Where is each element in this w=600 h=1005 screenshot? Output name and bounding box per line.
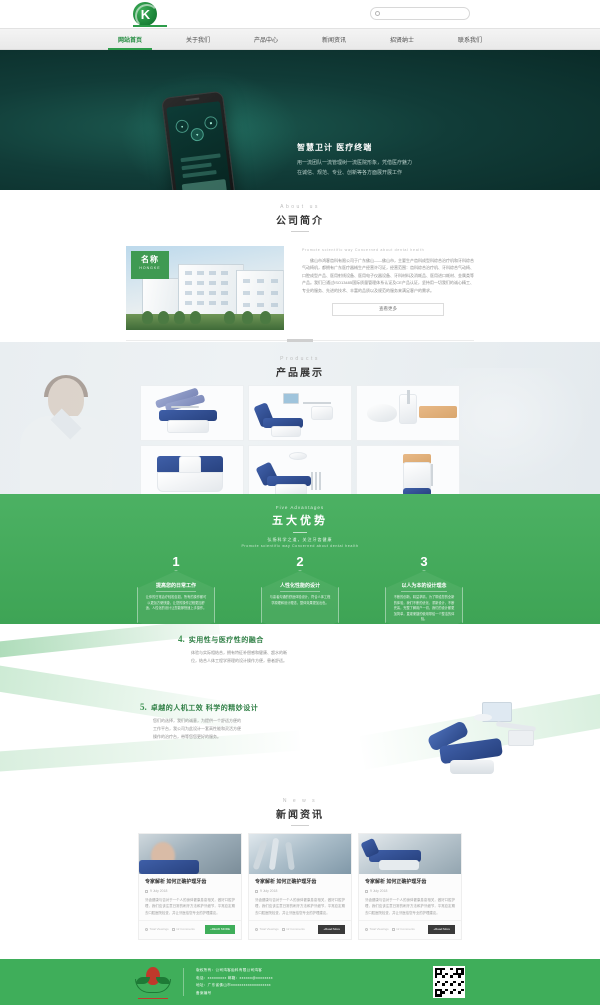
footer-divider [183,968,184,996]
advantage-desc: 让你的日常治疗轻松自如，所有的操作都可以更加方便快捷，让您的操作过程更加舒适，人… [145,595,207,612]
news-title[interactable]: 专家解析 如何正确护理牙齿 [255,879,345,886]
advantages-heading-cn: 五大优势 [0,512,600,528]
about-heading: About us 公司简介 [0,190,600,232]
news-date: 9 July 2018 [255,889,345,893]
advantage-number: 1 [134,555,218,568]
footer-copyright: 版权所有：公司鸿客齿科有限公司鸿客 [196,968,273,973]
hero-subtitle-line2: 在诚信、规范、专业、创新等各方面展开展工作 [297,169,512,179]
advantage-number: 3 [382,555,466,568]
search-box[interactable] [370,7,470,20]
advantage-4-desc-line1: 体验与实际相结合，拥有特征补偿感和健康、超水的晰 [178,649,408,657]
advantage-hexagon: 人性化性能的设计 与患者沟通的舒适体验设计，符合人体工程学原理和设计理念，整体效… [261,570,339,624]
advantage-4-head: 4. 实用性与医疗性的融合 [178,634,408,645]
chart-icon: ■ [204,116,218,130]
news-excerpt: 牙齿健康与否对于一个人的身体健康息息相关，做好口腔护理，我们应该注意日常的刷牙方… [145,897,235,916]
about-lead-en: Promote scientific way Concerned about d… [302,248,474,252]
logo-k-icon: K [133,2,157,26]
news-excerpt: 牙齿健康与否对于一个人的身体健康息息相关，做好口腔护理，我们应该注意日常的刷牙方… [365,897,455,916]
comment-icon [172,928,175,931]
about-heading-cn: 公司简介 [0,212,600,227]
advantages-section: Five Advantages 五大优势 弘扬科学之道，关注牙齿健康 Promo… [0,494,600,624]
news-card-body: 专家解析 如何正确护理牙齿 9 July 2018 牙齿健康与否对于一个人的身体… [139,874,241,920]
nav-item-contact[interactable]: 联系我们 [436,28,504,50]
nav-item-products[interactable]: 产品中心 [232,28,300,50]
hero-subtitle-line1: 用一流团队一流管理树一流医院形象，凭借医疗魅力 [297,159,512,169]
phone-screen: ● ♥ ■ [166,101,231,190]
advantage-desc: 不断的创新，精益求精，为了带给您的全新的体验，我们不断的优化、重新设计，不断完善… [393,595,455,623]
advantage-5-number: 5. [140,702,147,712]
advantage-5-desc-line1: 您们的选择，我们的诚意，为提供一个舒适方便的 [140,717,390,725]
phone-line [181,163,211,171]
about-divider [126,340,474,341]
advantage-item-3[interactable]: 3 以人为本的设计理念 不断的创新，精益求精，为了带给您的全新的体验，我们不断的… [382,555,466,624]
advantage-desc: 与患者沟通的舒适体验设计，符合人体工程学原理和设计理念，整体效果更加出色。 [269,595,331,606]
advantage-4-desc-line2: 位，结合人体工程学原理的设计操作方便，患者舒适。 [178,657,408,665]
building-right [236,270,284,316]
dental-chair-illustration [422,720,542,780]
advantage-item-2[interactable]: 2 人性化性能的设计 与患者沟通的舒适体验设计，符合人体工程学原理和设计理念，整… [258,555,342,624]
news-views-text: Total Viewings [260,927,279,931]
about-more-button[interactable]: 查看更多 [332,303,444,316]
phone-line [182,170,216,178]
chair-lamp [474,714,492,721]
logo-underline [133,25,167,27]
news-comments: 12 Comments [392,927,415,931]
news-card-body: 专家解析 如何正确护理牙齿 9 July 2018 牙齿健康与否对于一个人的身体… [359,874,461,920]
advantage-title: 提高您的日常工作 [156,582,196,592]
person-icon: ● [175,119,189,133]
advantages-detail-section: 4. 实用性与医疗性的融合 体验与实际相结合，拥有特征补偿感和健康、超水的晰 位… [0,624,600,784]
products-grid [140,385,460,494]
news-card-footer: Total Viewings 12 Comments +Read More [359,920,461,939]
news-title[interactable]: 专家解析 如何正确护理牙齿 [365,879,455,886]
hero-copy: 智慧卫计 医疗终端 用一流团队一流管理树一流医院形象，凭借医疗魅力 在诚信、规范… [297,142,512,178]
news-card-1[interactable]: 专家解析 如何正确护理牙齿 9 July 2018 牙齿健康与否对于一个人的身体… [138,833,242,940]
nav-item-news[interactable]: 新闻资讯 [300,28,368,50]
product-card-5[interactable] [248,445,352,494]
search-input[interactable] [382,11,465,16]
product-card-4[interactable] [140,445,244,494]
heart-icon: ♥ [190,127,204,141]
top-bar: K [0,0,600,28]
comment-icon [392,928,395,931]
eye-icon [255,928,258,931]
news-read-more-button[interactable]: +Read More [318,925,345,934]
news-comments: 12 Comments [282,927,305,931]
calendar-icon [255,890,258,893]
about-body: 名称 HONGKE Promote scientific way Concern… [0,232,600,330]
news-read-more-button[interactable]: +READ MORE [205,925,235,934]
company-emblem-icon [135,965,171,999]
emblem-bowl [135,979,171,993]
footer-address: 地址：广东省佛山市xxxxxxxxxxxxxxxxxxx [196,983,273,988]
news-card-body: 专家解析 如何正确护理牙齿 9 July 2018 牙齿健康与否对于一个人的身体… [249,874,351,920]
building-main [178,264,244,316]
advantages-tagline-cn: 弘扬科学之道，关注牙齿健康 [0,537,600,543]
news-thumbnail [249,834,351,874]
about-heading-en: About us [0,204,600,210]
advantages-tagline-en: Promote scientific way Concerned about d… [0,544,600,548]
news-heading-en: N e w s [0,798,600,804]
news-date-text: 9 July 2018 [260,889,277,893]
product-card-3[interactable] [356,385,460,441]
about-text: Promote scientific way Concerned about d… [302,246,474,330]
main-navigation: 网站首页 关于我们 产品中心 新闻资讯 招贤纳士 联系我们 [0,28,600,50]
advantage-4-number: 4. [178,634,185,644]
advantage-item-4: 4. 实用性与医疗性的融合 体验与实际相结合，拥有特征补偿感和健康、超水的晰 位… [178,634,408,665]
advantage-hexagon: 以人为本的设计理念 不断的创新，精益求精，为了带给您的全新的体验，我们不断的优化… [385,570,463,624]
advantages-heading-en: Five Advantages [0,505,600,510]
calendar-icon [145,890,148,893]
news-grid: 专家解析 如何正确护理牙齿 9 July 2018 牙齿健康与否对于一个人的身体… [0,833,600,940]
advantages-heading: Five Advantages 五大优势 弘扬科学之道，关注牙齿健康 Promo… [0,494,600,548]
advantage-5-desc-line3: 操作的治疗台，带等您您更好的服务。 [140,733,390,741]
nav-item-about[interactable]: 关于我们 [164,28,232,50]
footer-inner: 版权所有：公司鸿客齿科有限公司鸿客 电话：xxxxxxxxx 邮箱：xxxxxx… [135,965,465,999]
comment-icon [282,928,285,931]
phone-speaker [185,98,199,102]
footer-icp: 备案编号 [196,991,273,996]
qr-code [433,966,465,998]
product-card-6[interactable] [356,445,460,494]
advantage-item-1[interactable]: 1 提高您的日常工作 让你的日常治疗轻松自如，所有的操作都可以更加方便快捷，让您… [134,555,218,624]
news-thumbnail [139,834,241,874]
phone-panel [182,179,227,190]
advantage-hexagon: 提高您的日常工作 让你的日常治疗轻松自如，所有的操作都可以更加方便快捷，让您的操… [137,570,215,624]
about-building-image: 名称 HONGKE [126,246,284,330]
advantage-5-head: 5. 卓越的人机工效 科学的精妙设计 [140,702,390,713]
background-equipment [440,368,590,488]
news-views-text: Total Viewings [150,927,169,931]
badge-name-cn: 名称 [131,256,169,264]
advantage-5-title: 卓越的人机工效 科学的精妙设计 [151,703,258,713]
advantage-item-5: 5. 卓越的人机工效 科学的精妙设计 您们的选择，我们的诚意，为提供一个舒适方便… [140,702,390,741]
heading-rule [291,825,309,826]
news-views: Total Viewings [255,927,279,931]
news-card-3[interactable]: 专家解析 如何正确护理牙齿 9 July 2018 牙齿健康与否对于一个人的身体… [358,833,462,940]
news-excerpt: 牙齿健康与否对于一个人的身体健康息息相关，做好口腔护理，我们应该注意日常的刷牙方… [255,897,345,916]
footer-phone-email: 电话：xxxxxxxxx 邮箱：xxxxxx@xxxxxxxx [196,976,273,981]
news-date-text: 9 July 2018 [150,889,167,893]
company-name-badge: 名称 HONGKE [131,251,169,279]
news-views: Total Viewings [365,927,389,931]
news-date: 9 July 2018 [145,889,235,893]
calendar-icon [365,890,368,893]
qr-code-grid [435,968,464,997]
news-card-footer: Total Viewings 12 Comments +READ MORE [139,920,241,939]
news-comments-text: 12 Comments [176,927,195,931]
news-read-more-button[interactable]: +Read More [428,925,455,934]
news-title[interactable]: 专家解析 如何正确护理牙齿 [145,879,235,886]
eye-icon [365,928,368,931]
eye-icon [145,928,148,931]
advantage-title: 人性化性能的设计 [280,582,320,592]
about-paragraph: 佛山市鸿客齿科有限公司于广东佛山——佛山市，主要生产齿科成型科综合治疗机和牙科综… [302,257,474,294]
search-icon [375,11,380,16]
heading-rule [293,532,307,533]
news-date-text: 9 July 2018 [370,889,387,893]
about-section: About us 公司简介 [0,190,600,342]
news-thumbnail [359,834,461,874]
news-heading: N e w s 新闻资讯 [0,784,600,826]
chair-base [450,760,494,774]
news-views-text: Total Viewings [370,927,389,931]
site-footer: 版权所有：公司鸿客齿科有限公司鸿客 电话：xxxxxxxxx 邮箱：xxxxxx… [0,959,600,1005]
dentist-photo [18,378,114,494]
nav-item-careers[interactable]: 招贤纳士 [368,28,436,50]
news-comments-text: 12 Comments [286,927,305,931]
footer-contact: 版权所有：公司鸿客齿科有限公司鸿客 电话：xxxxxxxxx 邮箱：xxxxxx… [196,968,273,996]
advantage-number: 2 [258,555,342,568]
products-section: Products 产品展示 [0,342,600,494]
product-card-2[interactable] [248,385,352,441]
advantage-hex-row: 1 提高您的日常工作 让你的日常治疗轻松自如，所有的操作都可以更加方便快捷，让您… [0,555,600,624]
news-heading-cn: 新闻资讯 [0,806,600,821]
news-comments: 12 Comments [172,927,195,931]
advantage-4-title: 实用性与医疗性的融合 [189,635,264,645]
advantage-5-desc-line2: 工作平台，我公司为此设计一套高性能和灵活方便 [140,725,390,733]
nav-item-home[interactable]: 网站首页 [96,28,164,50]
hero-title: 智慧卫计 医疗终端 [297,142,512,153]
products-heading-en: Products [0,356,600,362]
emblem-bar [138,998,168,1000]
advantage-title: 以人为本的设计理念 [401,582,446,592]
logo-letter: K [141,8,149,21]
phone-line [181,153,221,162]
hero-banner: ● ♥ ■ 智慧卫计 医疗终端 用一流团队一流管理树一流医院形象，凭借医疗魅力 … [0,50,600,190]
badge-name-en: HONGKE [131,266,169,270]
news-comments-text: 12 Comments [396,927,415,931]
news-views: Total Viewings [145,927,169,931]
news-card-2[interactable]: 专家解析 如何正确护理牙齿 9 July 2018 牙齿健康与否对于一个人的身体… [248,833,352,940]
site-logo[interactable]: K [133,2,157,26]
news-date: 9 July 2018 [365,889,455,893]
product-card-1[interactable] [140,385,244,441]
news-section: N e w s 新闻资讯 专家解析 如何正确护理牙齿 9 July 2018 牙… [0,784,600,959]
chair-instrument-tray [508,730,534,746]
news-card-footer: Total Viewings 12 Comments +Read More [249,920,351,939]
